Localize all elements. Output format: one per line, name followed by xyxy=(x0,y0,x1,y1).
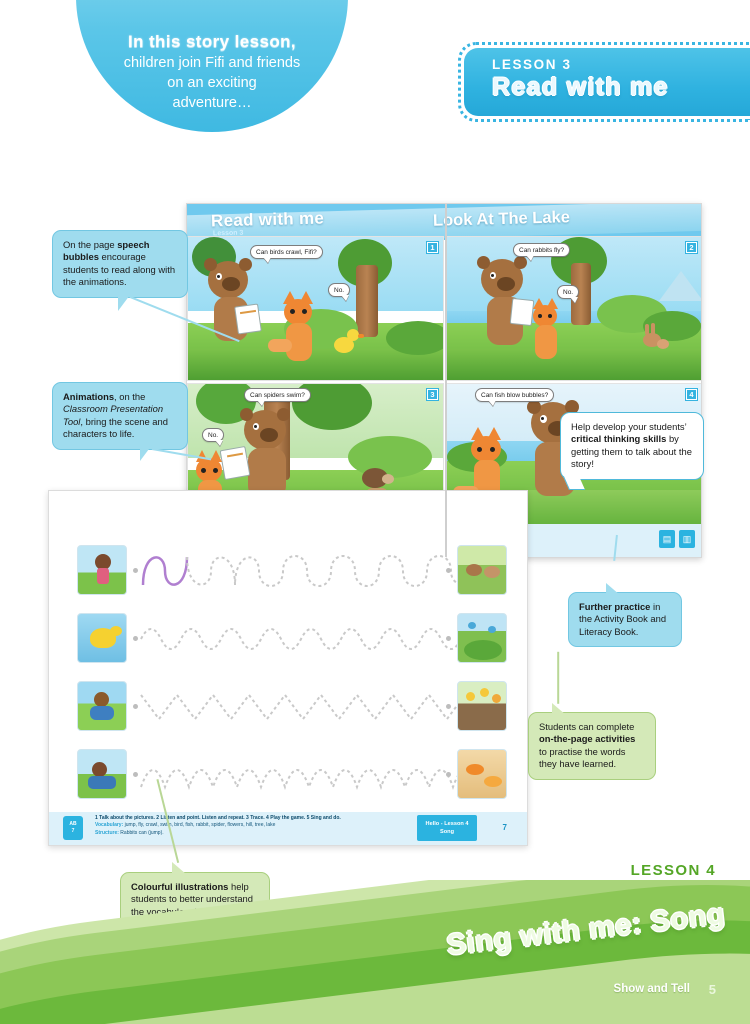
photo-thumbnail-rabbits xyxy=(457,545,507,595)
activity-book-chip-line1: AB xyxy=(63,821,83,828)
callout-critical-thinking-text: Help develop your students’ critical thi… xyxy=(571,421,692,469)
callout-critical-thinking: Help develop your students’ critical thi… xyxy=(560,412,704,480)
intro-blurb: In this story lesson, children join Fifi… xyxy=(76,0,348,132)
trace-end-dot xyxy=(446,704,451,709)
song-page-footer-text: 1 Talk about the pictures. 2 Listen and … xyxy=(95,815,435,837)
photo-thumbnail-girl-jumping xyxy=(77,545,127,595)
speech-bubble: Can spiders swim? xyxy=(244,388,311,402)
trace-path-waves xyxy=(139,613,485,663)
speech-bubble: No. xyxy=(557,285,579,299)
lesson-3-number: LESSON 3 xyxy=(492,57,750,72)
panel-number: 3 xyxy=(427,389,438,400)
song-footer-structure-row: Structure: Rabbits can (jump). xyxy=(95,830,435,837)
callout-speech-bubbles-tail xyxy=(118,295,130,311)
callout-on-the-page-activities-tail xyxy=(552,703,566,715)
lesson-3-title: Read with me xyxy=(492,73,750,102)
story-panel-1: Can birds crawl, Fifi? No. 1 xyxy=(187,236,444,381)
book-icon[interactable]: ▤ xyxy=(659,530,675,548)
structure-value: Rabbits can (jump). xyxy=(120,830,163,836)
callout-animations: Animations, on the Classroom Presentatio… xyxy=(52,382,188,450)
intro-blurb-line4: adventure… xyxy=(76,92,348,112)
bush-icon xyxy=(386,321,444,355)
photo-thumbnail-boy-swimming xyxy=(77,681,127,731)
intro-blurb-line1: In this story lesson, xyxy=(76,32,348,52)
tree-trunk-icon xyxy=(356,265,378,337)
trace-row xyxy=(77,613,507,665)
speech-bubble: No. xyxy=(202,428,224,442)
bush-icon xyxy=(348,436,432,478)
speech-bubble: No. xyxy=(328,283,350,297)
callout-colourful-illustrations-tail xyxy=(172,862,186,874)
song-lesson-chip-line2: Song xyxy=(417,828,477,836)
structure-label: Structure: xyxy=(95,830,119,836)
song-footer-vocabulary-row: Vocabulary: jump, fly, crawl, swim, bird… xyxy=(95,822,435,829)
spread-gutter xyxy=(445,204,447,558)
series-name: Show and Tell xyxy=(614,983,690,995)
panel-number: 1 xyxy=(427,242,438,253)
photo-thumbnail-fish xyxy=(457,749,507,799)
trace-start-dot xyxy=(133,636,138,641)
mountain-icon xyxy=(659,271,702,301)
trace-row xyxy=(77,545,507,597)
trace-path-loops xyxy=(139,545,485,595)
lesson-4-label: LESSON 4 xyxy=(631,862,716,879)
vocabulary-value: jump, fly, crawl, swim, bird, fish, rabb… xyxy=(125,822,276,828)
song-footer-instructions: 1 Talk about the pictures. 2 Listen and … xyxy=(95,815,435,822)
panel-number: 2 xyxy=(686,242,697,253)
song-lesson-chip: Hello - Lesson 4 Song xyxy=(417,815,477,841)
trace-start-dot xyxy=(133,772,138,777)
trace-row xyxy=(77,749,507,801)
vocabulary-label: Vocabulary: xyxy=(95,822,123,828)
photo-thumbnail-butterflies-bush xyxy=(457,613,507,663)
spread-footer-icons: ▤ ▥ xyxy=(659,530,695,548)
trace-start-dot xyxy=(133,704,138,709)
trace-start-dot xyxy=(133,568,138,573)
lesson-3-tag: LESSON 3 Read with me xyxy=(464,48,750,116)
spread-left-title: Read with me xyxy=(211,209,325,232)
trace-end-dot xyxy=(446,772,451,777)
photo-thumbnail-bird xyxy=(77,613,127,663)
intro-blurb-line3: on an exciting xyxy=(76,72,348,92)
trace-end-dot xyxy=(446,568,451,573)
panel-number: 4 xyxy=(686,389,697,400)
trace-end-dot xyxy=(446,636,451,641)
callout-speech-bubbles-text: On the page speech bubbles encourage stu… xyxy=(63,239,175,287)
trace-path-scallops xyxy=(139,749,485,799)
bottom-green-band xyxy=(0,880,750,1024)
bottom-page-number: 5 xyxy=(709,982,716,997)
textbook-promo-page: In this story lesson, children join Fifi… xyxy=(0,0,750,1024)
panel-grass-foreground xyxy=(447,349,702,380)
callout-further-practice: Further practice in the Activity Book an… xyxy=(568,592,682,647)
callout-speech-bubbles: On the page speech bubbles encourage stu… xyxy=(52,230,188,298)
activity-book-chip: AB 7 xyxy=(63,816,83,840)
callout-on-the-page-activities-connector xyxy=(557,652,559,704)
story-panel-2: Can rabbits fly? No. 2 xyxy=(446,236,702,381)
speech-bubble: Can fish blow bubbles? xyxy=(475,388,554,402)
song-lesson-chip-line1: Hello - Lesson 4 xyxy=(417,820,477,828)
callout-further-practice-text: Further practice in the Activity Book an… xyxy=(579,601,666,637)
callout-animations-tail xyxy=(140,445,152,461)
worksheet-icon[interactable]: ▥ xyxy=(679,530,695,548)
song-page-number: 7 xyxy=(503,823,507,832)
callout-on-the-page-activities: Students can complete on-the-page activi… xyxy=(528,712,656,780)
photo-thumbnail-child-crawling xyxy=(77,749,127,799)
spread-right-title: Look At The Lake xyxy=(433,208,570,231)
photo-thumbnail-flowers xyxy=(457,681,507,731)
intro-blurb-line2: children join Fifi and friends xyxy=(76,52,348,72)
trace-path-zigzag xyxy=(139,681,485,731)
song-page-footer: AB 7 1 Talk about the pictures. 2 Listen… xyxy=(49,812,528,845)
speech-bubble: Can rabbits fly? xyxy=(513,243,570,257)
speech-bubble: Can birds crawl, Fifi? xyxy=(250,245,323,259)
callout-further-practice-tail xyxy=(606,583,620,595)
activity-book-chip-line2: 7 xyxy=(63,828,83,835)
song-activity-page: AB 7 1 Talk about the pictures. 2 Listen… xyxy=(48,490,528,846)
callout-animations-text: Animations, on the Classroom Presentatio… xyxy=(63,391,168,439)
callout-on-the-page-activities-text: Students can complete on-the-page activi… xyxy=(539,721,635,769)
trace-row xyxy=(77,681,507,733)
